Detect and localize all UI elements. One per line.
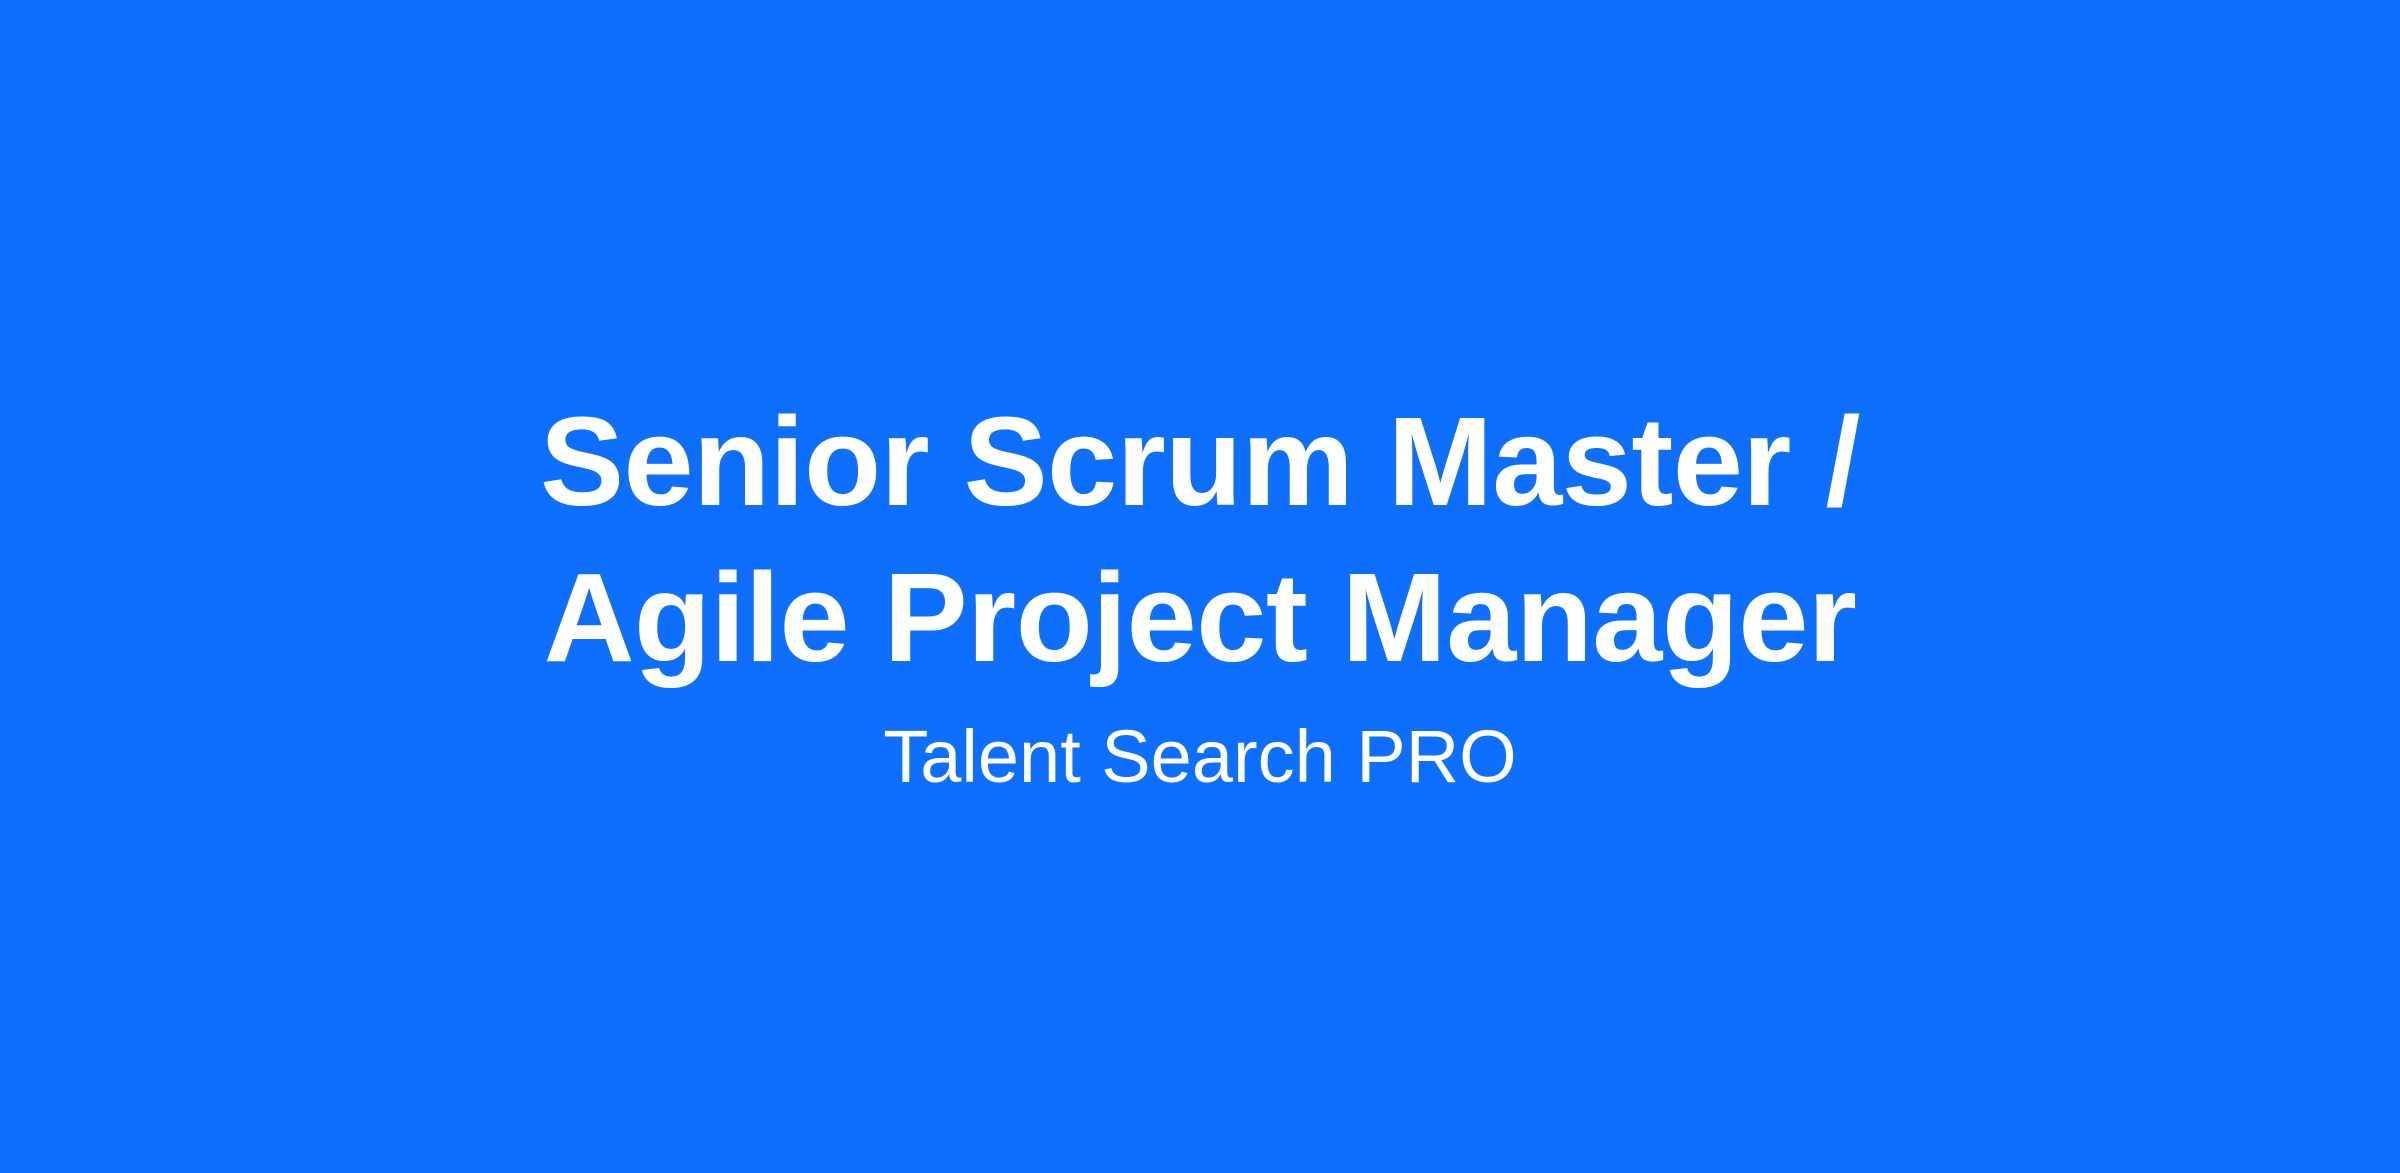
page-title: Senior Scrum Master / Agile Project Mana… xyxy=(370,384,2030,695)
page-subtitle: Talent Search PRO xyxy=(883,713,1516,800)
hero-banner: Senior Scrum Master / Agile Project Mana… xyxy=(0,0,2400,1173)
hero-content-block: Senior Scrum Master / Agile Project Mana… xyxy=(370,384,2030,801)
